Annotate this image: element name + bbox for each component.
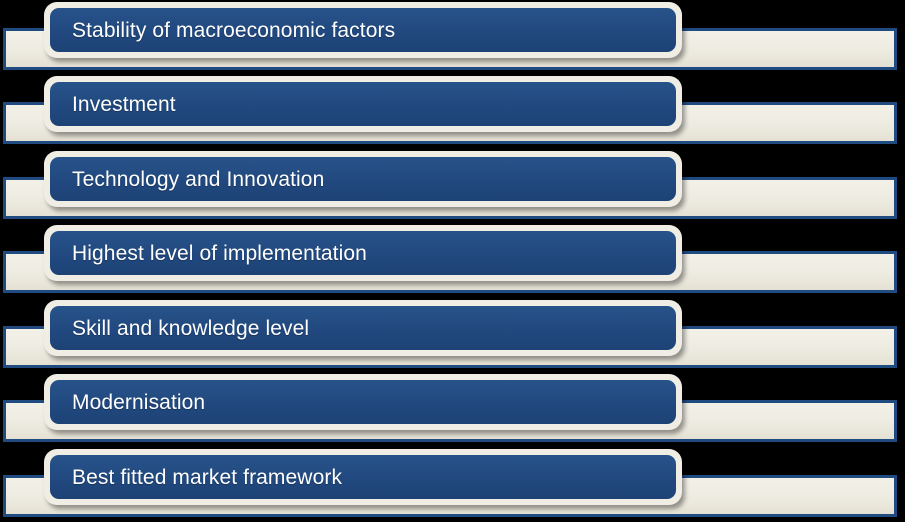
row-chip-inner: Technology and Innovation [50, 157, 676, 201]
row-label: Skill and knowledge level [50, 318, 309, 339]
process-list-diagram: Stability of macroeconomic factors Inves… [0, 0, 905, 518]
row-label: Best fitted market framework [50, 467, 342, 488]
row-chip-inner: Investment [50, 82, 676, 126]
row-chip-inner: Modernisation [50, 380, 676, 424]
row-chip-inner: Best fitted market framework [50, 455, 676, 499]
row-chip[interactable]: Modernisation [44, 374, 682, 430]
row-chip[interactable]: Highest level of implementation [44, 225, 682, 281]
row-chip[interactable]: Best fitted market framework [44, 449, 682, 505]
row-chip-inner: Skill and knowledge level [50, 306, 676, 350]
row-label: Stability of macroeconomic factors [50, 20, 395, 41]
process-row[interactable]: Stability of macroeconomic factors [0, 0, 905, 75]
process-row[interactable]: Highest level of implementation [0, 223, 905, 298]
row-chip-inner: Highest level of implementation [50, 231, 676, 275]
process-row[interactable]: Best fitted market framework [0, 447, 905, 522]
row-label: Technology and Innovation [50, 169, 324, 190]
process-row[interactable]: Modernisation [0, 372, 905, 447]
row-chip[interactable]: Stability of macroeconomic factors [44, 2, 682, 58]
row-chip-inner: Stability of macroeconomic factors [50, 8, 676, 52]
process-row[interactable]: Investment [0, 74, 905, 149]
row-chip[interactable]: Skill and knowledge level [44, 300, 682, 356]
row-chip[interactable]: Investment [44, 76, 682, 132]
row-label: Modernisation [50, 392, 205, 413]
process-row[interactable]: Technology and Innovation [0, 149, 905, 224]
process-row[interactable]: Skill and knowledge level [0, 298, 905, 373]
row-chip[interactable]: Technology and Innovation [44, 151, 682, 207]
row-label: Highest level of implementation [50, 243, 367, 264]
row-label: Investment [50, 94, 176, 115]
